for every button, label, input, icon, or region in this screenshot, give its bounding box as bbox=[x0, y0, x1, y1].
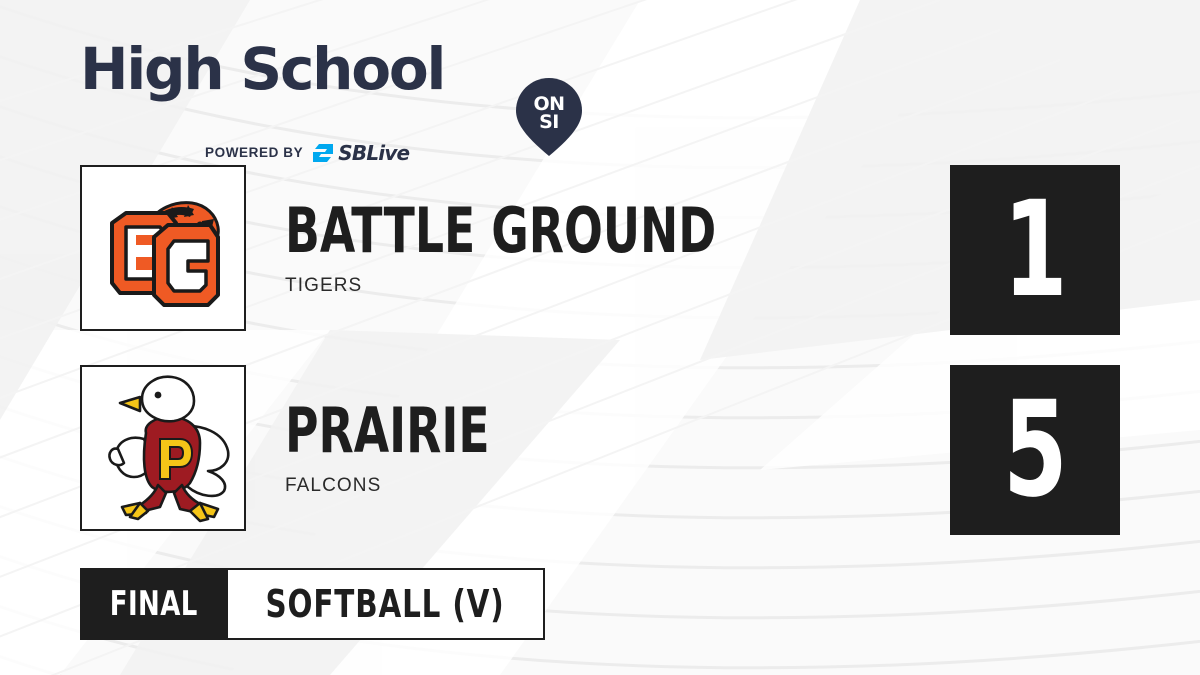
team-row: BATTLE GROUND TIGERS 1 bbox=[80, 165, 1120, 335]
brand-header: High School ON SI POWERED BY SBLive bbox=[80, 36, 510, 136]
status-badge: FINAL bbox=[80, 568, 228, 640]
sport-label: SOFTBALL (V) bbox=[266, 585, 505, 623]
team-identity: BATTLE GROUND TIGERS bbox=[285, 165, 811, 331]
sport-label-box: SOFTBALL (V) bbox=[228, 568, 545, 640]
sblive-wordmark: SBLive bbox=[338, 143, 409, 164]
sblive-wordmark-upper: SBL bbox=[338, 141, 378, 165]
team-name: PRAIRIE bbox=[285, 400, 490, 462]
team-score-box: 1 bbox=[950, 165, 1120, 335]
team-mascot: FALCONS bbox=[285, 476, 535, 496]
pin-label-si: SI bbox=[516, 113, 582, 132]
scoreboard-graphic: High School ON SI POWERED BY SBLive bbox=[0, 0, 1200, 675]
sblive-wordmark-lower: ive bbox=[378, 141, 409, 165]
team-score: 5 bbox=[1003, 384, 1067, 516]
game-status-bar: FINAL SOFTBALL (V) bbox=[80, 568, 545, 640]
powered-by-label: POWERED BY bbox=[205, 146, 303, 160]
brand-wordmark: High School bbox=[80, 36, 444, 102]
team-name: BATTLE GROUND bbox=[285, 200, 716, 262]
team-row: PRAIRIE FALCONS 5 bbox=[80, 365, 1120, 535]
sblive-logo: SBLive bbox=[312, 142, 409, 164]
on-si-pin-icon: ON SI bbox=[516, 78, 582, 156]
status-state-label: FINAL bbox=[110, 587, 198, 621]
team-identity: PRAIRIE FALCONS bbox=[285, 365, 535, 531]
sblive-s-mark bbox=[312, 142, 334, 164]
team-mascot: TIGERS bbox=[285, 276, 811, 296]
team-score: 1 bbox=[1003, 184, 1067, 316]
team-logo-prairie-falcons bbox=[80, 365, 246, 531]
powered-by-lockup: POWERED BY SBLive bbox=[205, 141, 409, 165]
team-logo-battle-ground-tigers bbox=[80, 165, 246, 331]
team-score-box: 5 bbox=[950, 365, 1120, 535]
